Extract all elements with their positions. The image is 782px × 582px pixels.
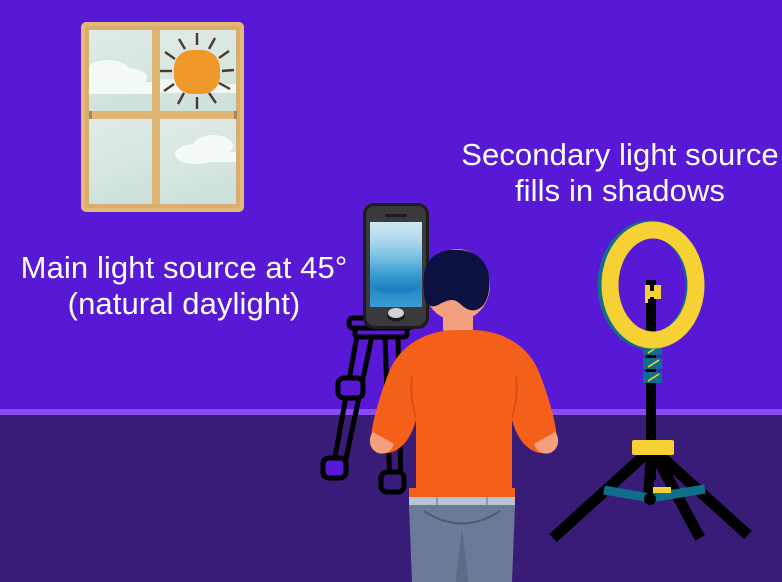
smartphone-earpiece-icon — [385, 214, 407, 217]
tripod-foot-right — [381, 472, 404, 492]
ring-light-group — [553, 229, 748, 538]
window-mullion-horizontal — [89, 111, 237, 119]
label-main-light-source: Main light source at 45° (natural daylig… — [8, 250, 360, 322]
person-sweater-hem — [409, 488, 515, 497]
tripod-mount-plate — [355, 328, 407, 337]
tripod-clamp-left — [338, 378, 363, 398]
sun-icon — [174, 50, 220, 94]
tripod-foot-left — [323, 458, 346, 478]
label-secondary-light-source: Secondary light source fills in shadows — [458, 137, 782, 209]
ring-light-collar — [632, 440, 674, 455]
ring-light-cross-brace — [604, 487, 705, 505]
tripod-leg-left — [333, 336, 357, 468]
window-group — [77, 22, 244, 212]
illustration-scene: Main light source at 45° (natural daylig… — [0, 0, 782, 582]
ring-light-clamps — [643, 344, 662, 383]
tripod-leg-middle — [344, 336, 372, 468]
window-pane-bottom-left — [89, 119, 153, 204]
